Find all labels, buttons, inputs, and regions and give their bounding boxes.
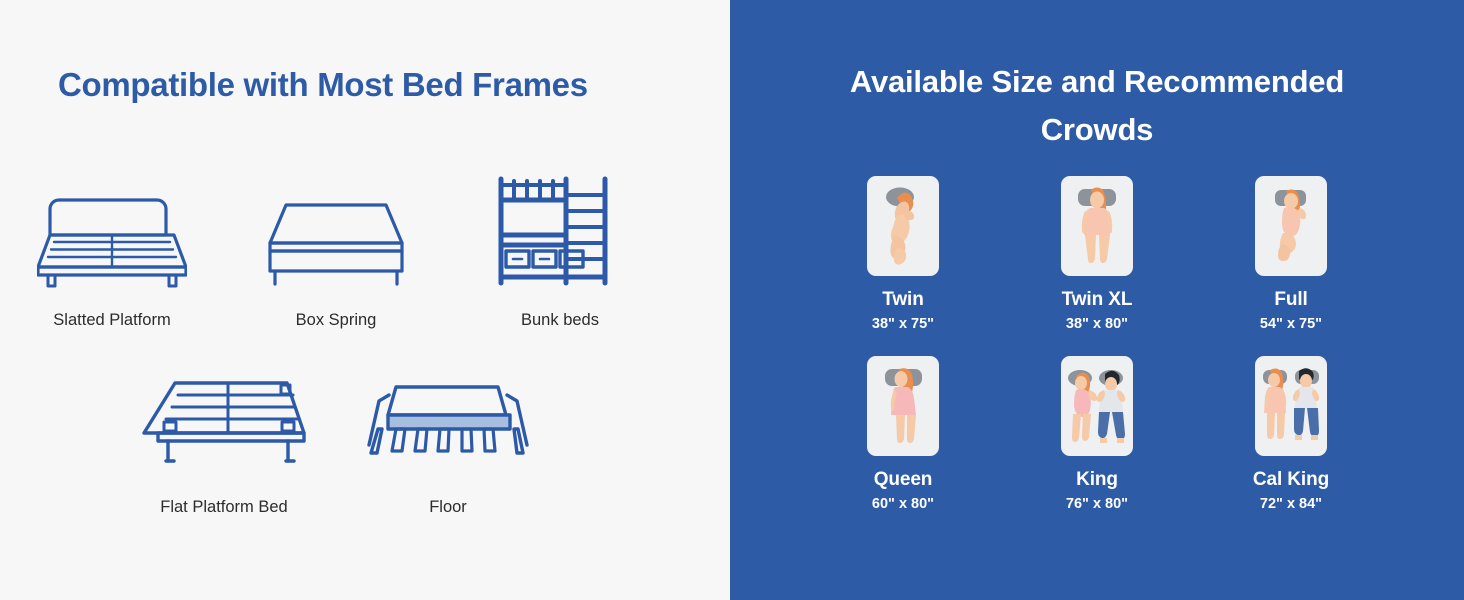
frame-label: Floor	[429, 498, 467, 517]
size-item-twin[interactable]: Twin 38" x 75"	[806, 176, 1000, 332]
one-person-straight-icon	[1061, 176, 1133, 276]
frame-item-flat-platform-bed[interactable]: Flat Platform Bed	[112, 352, 336, 517]
size-item-king[interactable]: King 76" x 80"	[1000, 356, 1194, 512]
size-item-cal-king[interactable]: Cal King 72" x 84"	[1194, 356, 1388, 512]
frame-label: Bunk beds	[521, 311, 599, 330]
frame-label: Box Spring	[296, 311, 377, 330]
size-dims: 38" x 80"	[1066, 316, 1128, 332]
one-person-bent-icon	[1255, 176, 1327, 276]
size-dims: 38" x 75"	[872, 316, 934, 332]
bed-frames-grid: Slatted Platform Box Spring	[0, 165, 730, 517]
size-name: Twin	[882, 289, 923, 311]
frame-label: Flat Platform Bed	[160, 498, 287, 517]
one-person-side-icon	[867, 356, 939, 456]
size-name: Cal King	[1253, 469, 1329, 491]
slatted-platform-bed-icon	[37, 165, 187, 295]
bed-sizes-grid: Twin 38" x 75" Twin XL 38" x 80"	[730, 176, 1464, 512]
bed-frames-row-1: Slatted Platform Box Spring	[0, 165, 730, 330]
size-item-twin-xl[interactable]: Twin XL 38" x 80"	[1000, 176, 1194, 332]
left-panel-title: Compatible with Most Bed Frames	[58, 66, 588, 104]
size-dims: 72" x 84"	[1260, 496, 1322, 512]
size-name: Queen	[874, 469, 933, 491]
bed-frames-row-2: Flat Platform Bed	[0, 352, 730, 517]
floor-icon	[366, 352, 531, 482]
flat-platform-bed-icon	[142, 352, 307, 482]
size-dims: 76" x 80"	[1066, 496, 1128, 512]
frame-item-bunk-beds[interactable]: Bunk beds	[448, 165, 672, 330]
frame-item-box-spring[interactable]: Box Spring	[224, 165, 448, 330]
size-name: King	[1076, 469, 1118, 491]
size-dims: 54" x 75"	[1260, 316, 1322, 332]
frame-item-slatted-platform[interactable]: Slatted Platform	[0, 165, 224, 330]
size-name: Full	[1274, 289, 1307, 311]
box-spring-icon	[261, 165, 411, 295]
size-name: Twin XL	[1062, 289, 1133, 311]
one-person-curled-icon	[867, 176, 939, 276]
frame-label: Slatted Platform	[53, 311, 170, 330]
two-people-icon	[1061, 356, 1133, 456]
size-item-queen[interactable]: Queen 60" x 80"	[806, 356, 1000, 512]
right-panel-title: Available Size and Recommended Crowds	[730, 0, 1464, 154]
bunk-beds-icon	[495, 165, 625, 295]
frame-item-floor[interactable]: Floor	[336, 352, 560, 517]
size-dims: 60" x 80"	[872, 496, 934, 512]
bed-frames-panel: Compatible with Most Bed Frames	[0, 0, 730, 600]
two-people-wide-icon	[1255, 356, 1327, 456]
bed-sizes-panel: Available Size and Recommended Crowds Tw…	[730, 0, 1464, 600]
size-item-full[interactable]: Full 54" x 75"	[1194, 176, 1388, 332]
